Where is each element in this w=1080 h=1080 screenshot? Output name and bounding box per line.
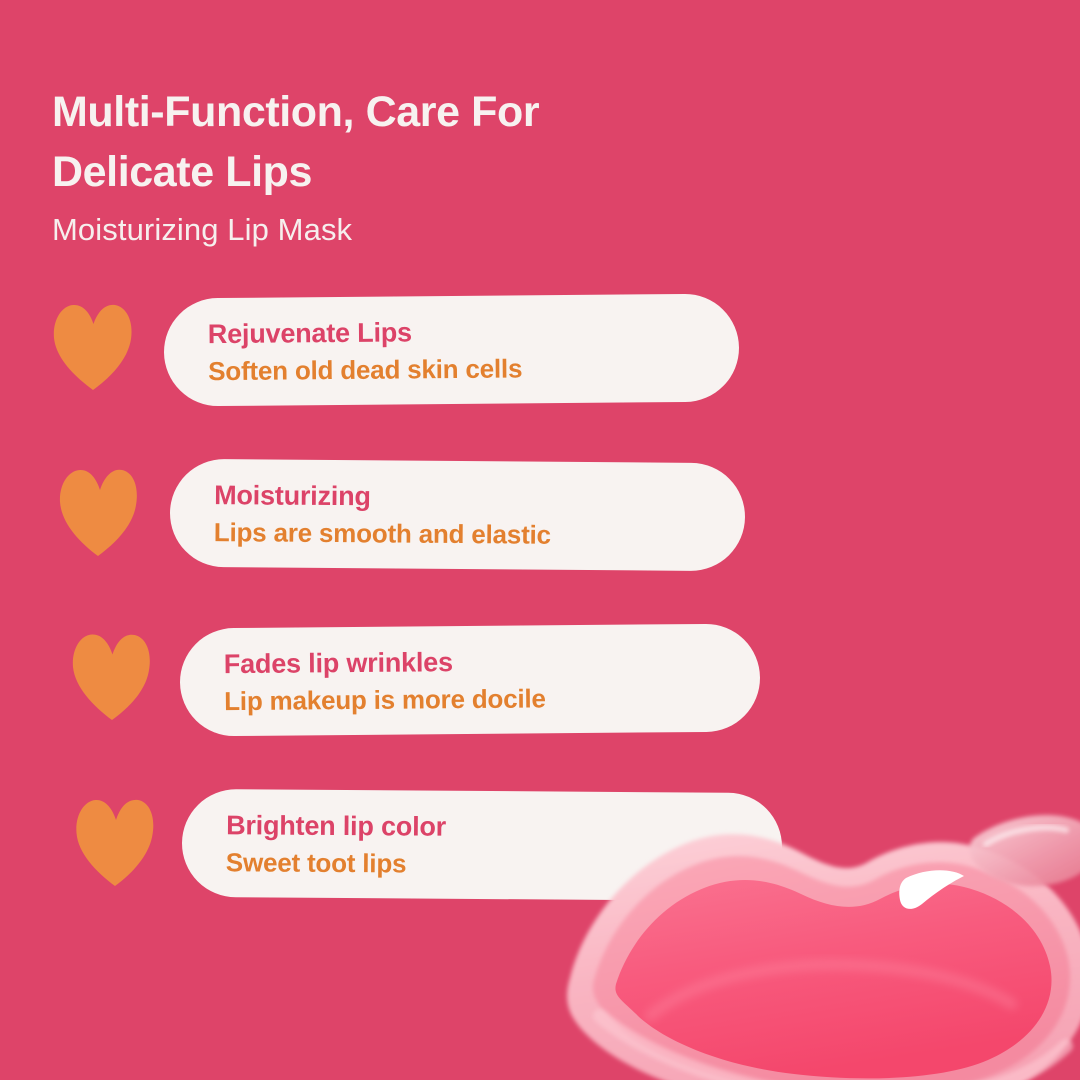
- feature-card: Moisturizing Lips are smooth and elastic: [170, 459, 746, 572]
- heart-icon: [52, 302, 134, 394]
- feature-title: Moisturizing: [214, 476, 745, 518]
- poster-header: Multi-Function, Care For Delicate Lips M…: [52, 82, 712, 250]
- heart-icon: [70, 632, 152, 724]
- page-title: Multi-Function, Care For Delicate Lips: [52, 82, 712, 202]
- feature-description: Soften old dead skin cells: [208, 348, 739, 389]
- list-item: Moisturizing Lips are smooth and elastic: [58, 461, 758, 581]
- feature-title: Rejuvenate Lips: [208, 310, 739, 353]
- feature-card: Rejuvenate Lips Soften old dead skin cel…: [164, 293, 740, 406]
- product-image: [560, 716, 1080, 1080]
- feature-description: Lip makeup is more docile: [224, 678, 760, 719]
- heart-icon: [58, 467, 140, 559]
- lip-mask-promo-poster: Multi-Function, Care For Delicate Lips M…: [0, 0, 1080, 1080]
- page-subtitle: Moisturizing Lip Mask: [52, 210, 712, 250]
- list-item: Rejuvenate Lips Soften old dead skin cel…: [52, 296, 752, 416]
- feature-description: Lips are smooth and elastic: [214, 514, 745, 554]
- feature-title: Fades lip wrinkles: [224, 640, 760, 683]
- heart-icon: [74, 797, 156, 889]
